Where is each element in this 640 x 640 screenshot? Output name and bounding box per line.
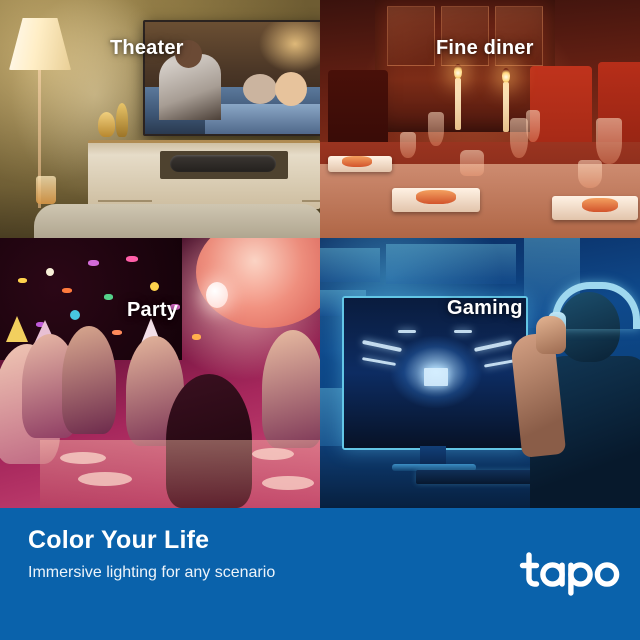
panel-label-fine-diner: Fine diner — [436, 38, 534, 58]
diner-glass-1 — [428, 112, 444, 146]
diner-candle-2 — [503, 82, 509, 132]
gaming-wall-stripe-1 — [320, 248, 380, 282]
party-light-globe — [206, 282, 228, 308]
console-drawer-line-1 — [98, 200, 152, 202]
game-light-strip-2 — [362, 357, 396, 366]
diner-candle-1 — [455, 78, 461, 130]
gamer-hand — [536, 316, 566, 354]
scenario-panel-theater[interactable]: Theater — [0, 0, 320, 238]
scenario-panel-fine-diner[interactable]: Fine diner — [320, 0, 640, 238]
diner-bowl — [460, 150, 484, 176]
panel-label-party: Party — [127, 300, 178, 320]
game-light-strip-4 — [484, 359, 514, 367]
diner-food-2 — [582, 198, 618, 212]
panel-label-gaming: Gaming — [447, 298, 523, 318]
party-confetti — [104, 294, 113, 300]
party-hat-1 — [6, 316, 28, 342]
theater-soundbar — [170, 155, 276, 172]
party-confetti — [46, 268, 54, 276]
game-light-strip-1 — [362, 340, 402, 352]
scenario-panel-gaming[interactable]: Gaming — [320, 238, 640, 508]
party-dish-2 — [60, 452, 106, 464]
tv-scene-person-middle — [243, 74, 277, 104]
game-light-ceiling-1 — [398, 330, 416, 333]
theater-media-console — [88, 140, 320, 209]
scenario-grid: Theater — [0, 0, 640, 508]
diner-glass-3 — [526, 110, 540, 142]
party-confetti — [192, 334, 201, 340]
gaming-monitor-stand — [420, 446, 446, 466]
party-guest-5 — [262, 330, 320, 448]
panel-label-theater: Theater — [110, 38, 184, 58]
console-drawer-line-2 — [302, 200, 320, 202]
party-confetti — [112, 330, 122, 335]
game-doorway-glow — [424, 368, 448, 386]
diner-glass-5 — [400, 132, 416, 158]
game-light-ceiling-2 — [454, 330, 472, 333]
diner-glass-6 — [578, 160, 602, 188]
diner-food-3 — [342, 156, 372, 167]
diner-candle-flame-1 — [454, 64, 462, 79]
gaming-wall-stripe-3 — [386, 244, 516, 284]
theater-decanter — [36, 176, 56, 204]
theater-vase-tall — [116, 103, 128, 137]
party-dish-1 — [78, 472, 132, 486]
party-guest-3 — [62, 326, 116, 434]
party-confetti — [18, 278, 27, 283]
party-dish-4 — [252, 448, 294, 460]
gaming-keyboard — [416, 470, 540, 484]
diner-candle-flame-2 — [502, 68, 510, 83]
gaming-screen — [344, 298, 526, 448]
banner-subtitle: Immersive lighting for any scenario — [28, 565, 275, 581]
promo-banner: Color Your Life Immersive lighting for a… — [0, 508, 640, 640]
scenario-panel-party[interactable]: Party — [0, 238, 320, 508]
party-confetti — [150, 282, 159, 291]
banner-headline: Color Your Life — [28, 528, 209, 553]
party-confetti — [70, 310, 80, 320]
tv-scene-person-right — [275, 72, 307, 106]
tapo-logo — [519, 552, 623, 596]
theater-sofa — [34, 204, 320, 238]
product-banner-page: Theater — [0, 0, 640, 640]
tv-scene-blanket — [205, 104, 320, 134]
gaming-monitor — [342, 296, 528, 450]
party-confetti — [62, 288, 72, 293]
party-dish-3 — [262, 476, 314, 490]
game-light-strip-3 — [474, 340, 512, 352]
party-confetti — [88, 260, 99, 266]
party-confetti — [126, 256, 138, 262]
theater-vase-small — [98, 112, 115, 137]
cabinet-door-1 — [387, 6, 435, 66]
diner-food-1 — [416, 190, 456, 204]
diner-glass-4 — [596, 118, 622, 164]
